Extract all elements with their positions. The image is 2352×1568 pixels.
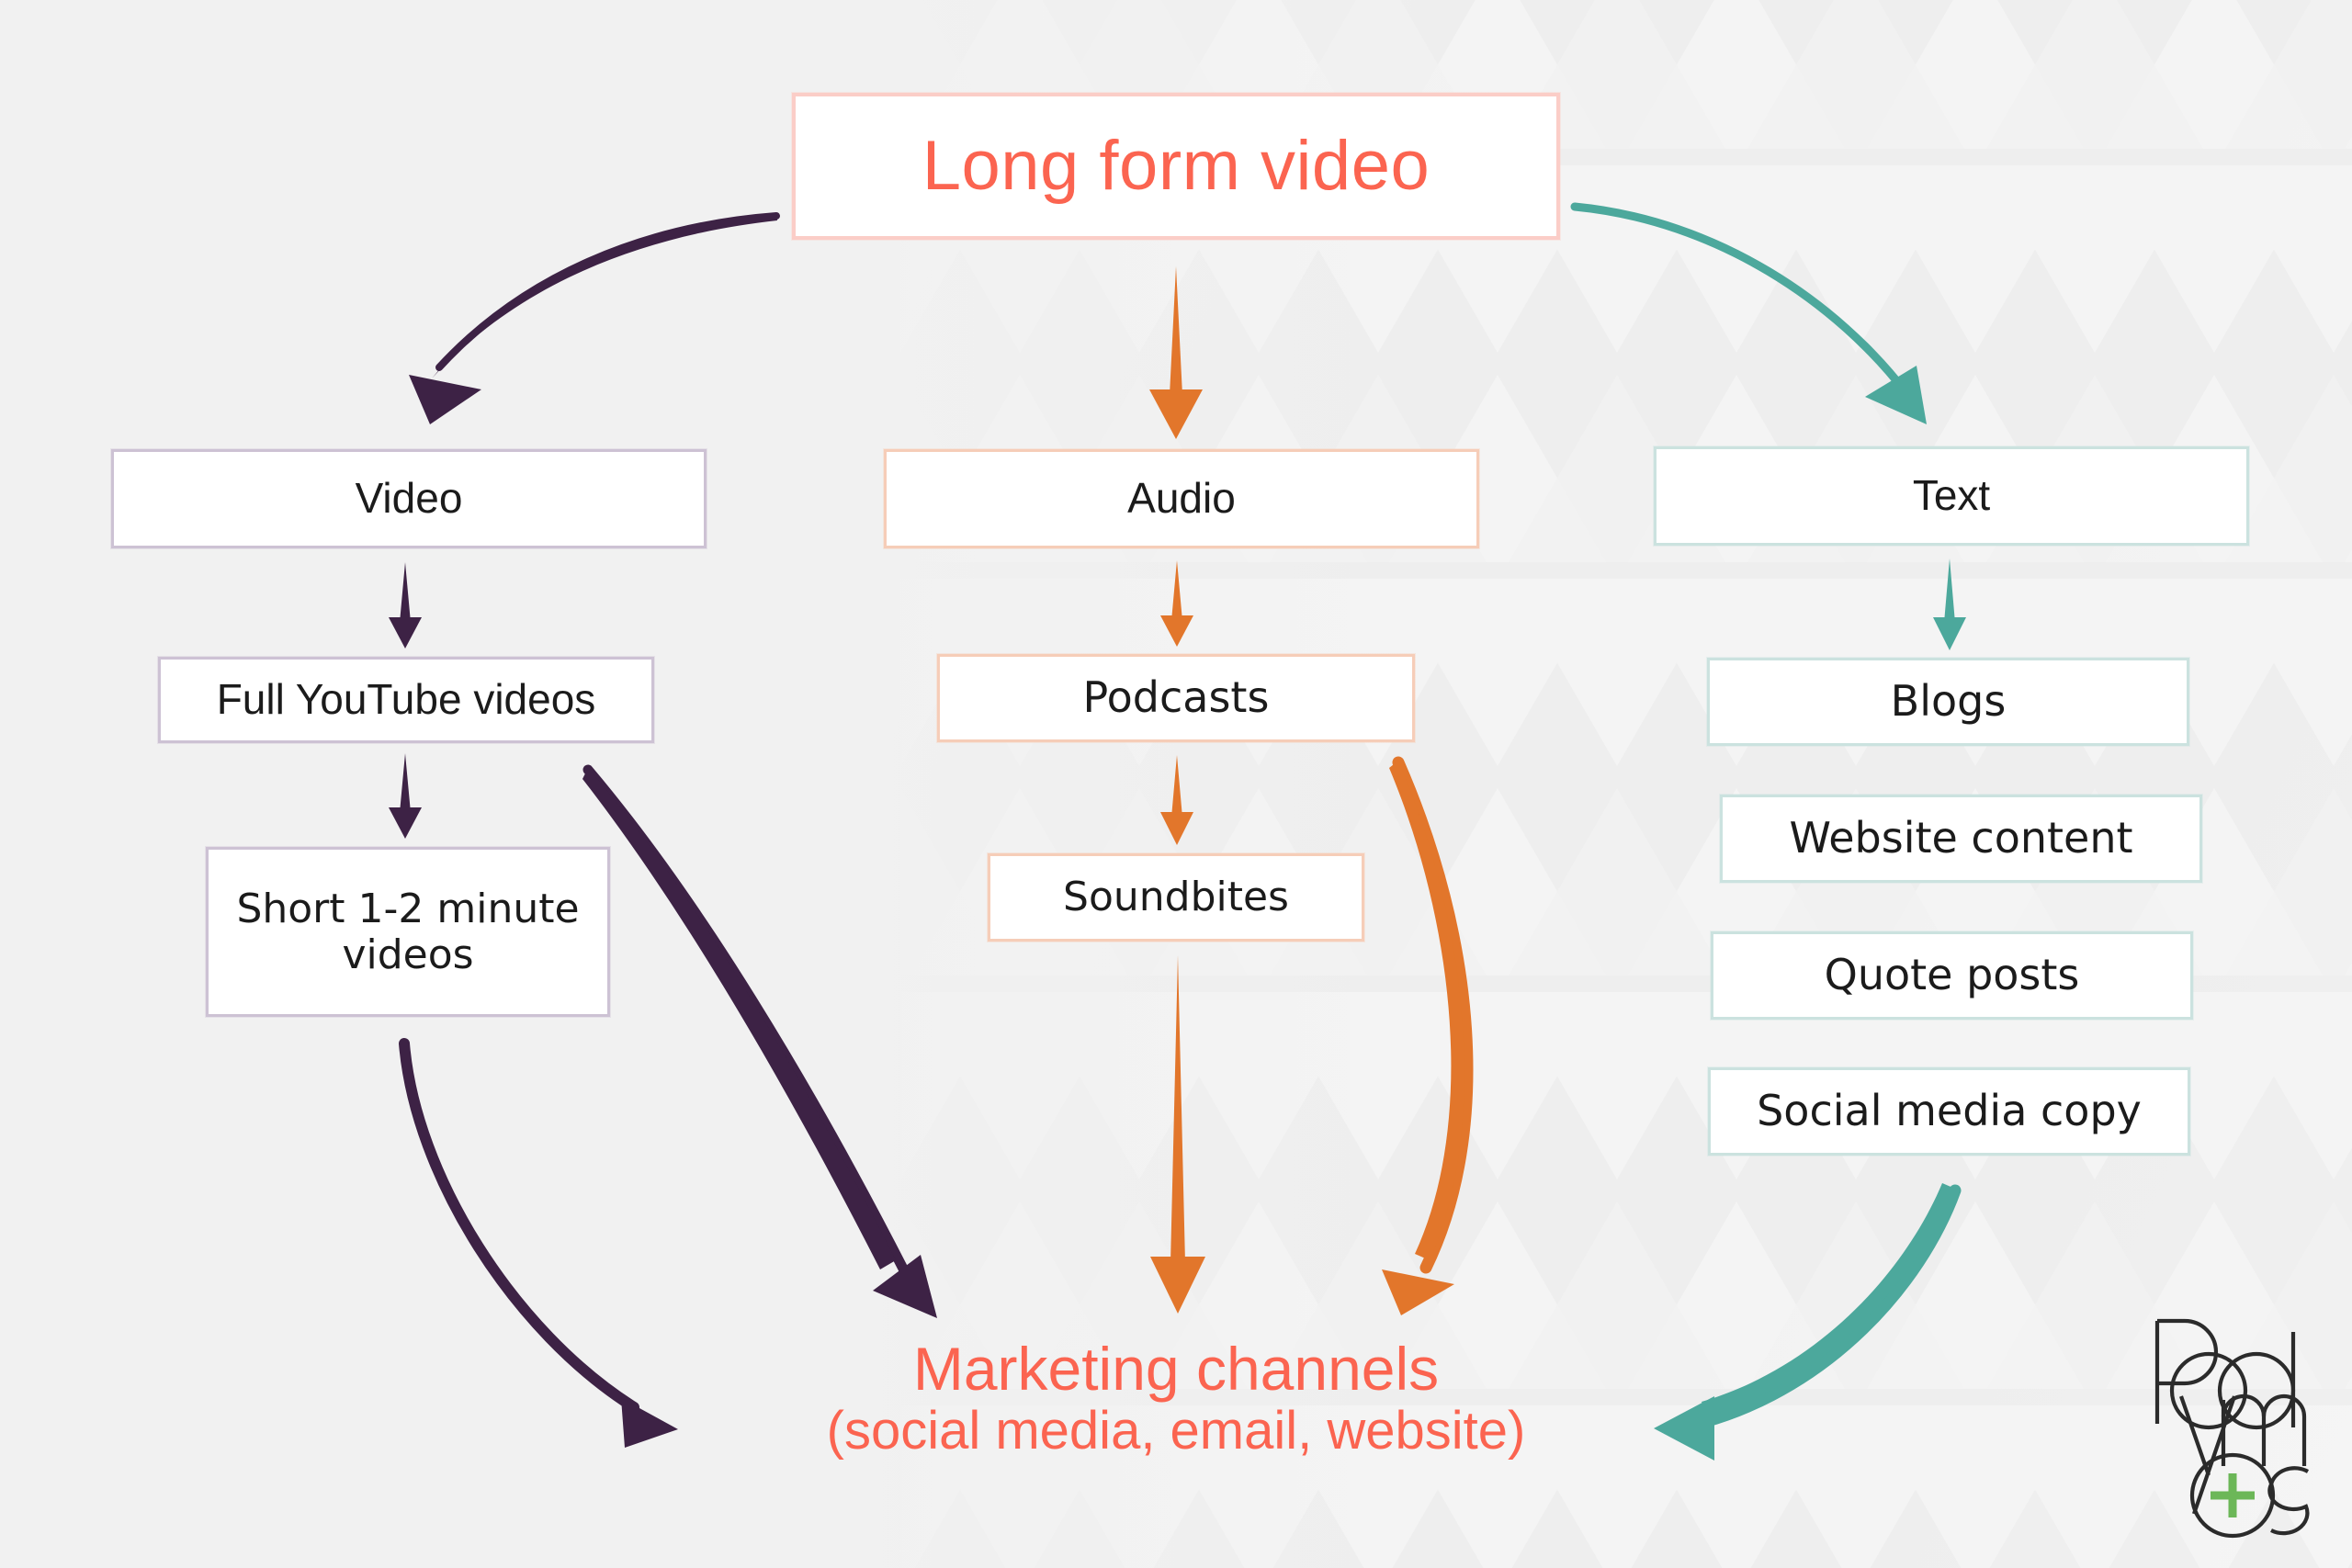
destination-title: Marketing channels: [643, 1337, 1709, 1402]
node-label: Website content: [1789, 815, 2132, 863]
arrow-text-to-blogs: [1933, 558, 1966, 650]
node-text[interactable]: Text: [1654, 446, 2249, 546]
node-label: Podcasts: [1083, 674, 1270, 722]
node-label: Video: [356, 475, 463, 523]
node-video[interactable]: Video: [111, 449, 707, 548]
arrow-short-to-destination: [404, 1043, 678, 1448]
node-label: Quote posts: [1825, 952, 2080, 999]
arrow-audio-to-podcasts: [1160, 560, 1193, 647]
node-label: Audio: [1127, 475, 1236, 523]
podymos-logo: [2143, 1308, 2326, 1547]
node-podcasts[interactable]: Podcasts: [937, 654, 1415, 742]
node-label: Long form video: [922, 127, 1430, 205]
node-social-media-copy[interactable]: Social media copy: [1708, 1067, 2190, 1156]
node-label: Soundbites: [1063, 874, 1289, 919]
node-label: Full YouTube videos: [217, 676, 596, 724]
arrow-youtube-to-short: [389, 753, 422, 839]
arrow-youtube-to-destination: [582, 768, 937, 1318]
arrow-video-to-youtube: [389, 562, 422, 649]
node-soundbites[interactable]: Soundbites: [988, 853, 1364, 942]
destination-label: Marketing channels (social media, email,…: [643, 1337, 1709, 1461]
node-label: Text: [1913, 472, 1990, 520]
node-blogs[interactable]: Blogs: [1707, 658, 2189, 746]
node-quote-posts[interactable]: Quote posts: [1711, 931, 2193, 1020]
destination-subtitle: (social media, email, website): [643, 1402, 1709, 1461]
node-full-youtube-videos[interactable]: Full YouTube videos: [158, 657, 654, 743]
node-short-videos[interactable]: Short 1-2 minute videos: [206, 847, 610, 1017]
arrow-podcasts-to-destination: [1382, 761, 1467, 1315]
node-website-content[interactable]: Website content: [1720, 795, 2202, 883]
diagram-canvas: Long form video Video Audio Text Full Yo…: [0, 0, 2352, 1568]
node-long-form-video[interactable]: Long form video: [792, 93, 1560, 240]
arrow-podcasts-to-soundbites: [1160, 755, 1193, 845]
node-label: Short 1-2 minute videos: [209, 886, 607, 977]
arrow-root-to-audio: [1149, 266, 1203, 439]
node-label: Blogs: [1891, 678, 2007, 726]
arrow-soundbites-to-destination: [1150, 955, 1205, 1314]
arrow-root-to-text: [1575, 207, 1927, 424]
node-label: Social media copy: [1757, 1088, 2142, 1135]
arrow-root-to-video: [409, 214, 777, 424]
node-audio[interactable]: Audio: [884, 449, 1479, 548]
